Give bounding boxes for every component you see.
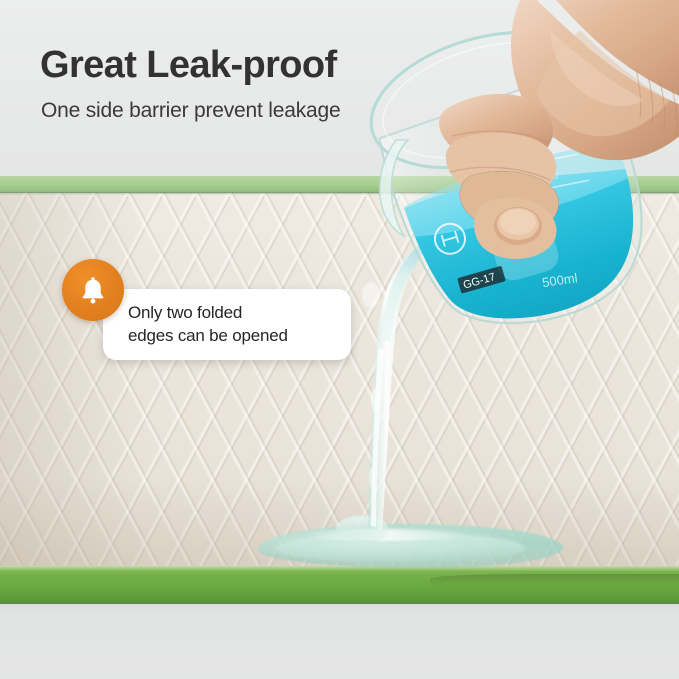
bell-icon	[76, 273, 110, 307]
callout-badge	[62, 259, 124, 321]
page-title: Great Leak-proof	[40, 44, 337, 87]
callout-line-1: Only two folded	[128, 301, 353, 324]
hand-holding-beaker: 500 400 300 GG-17 500ml	[330, 0, 679, 370]
mat-drop-shadow	[0, 602, 679, 604]
callout-line-2: edges can be opened	[128, 324, 353, 347]
mat-edge-highlight	[0, 566, 679, 571]
product-feature-image: Great Leak-proof One side barrier preven…	[0, 0, 679, 679]
page-subtitle: One side barrier prevent leakage	[41, 99, 340, 123]
mat-edge-shadow	[430, 574, 679, 586]
background-bottom	[0, 600, 679, 679]
callout-text: Only two folded edges can be opened	[128, 301, 353, 347]
